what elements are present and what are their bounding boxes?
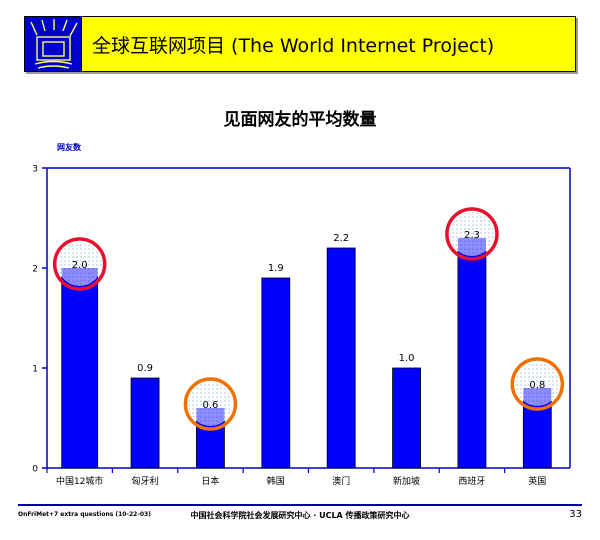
y-axis-tick-label: 2	[32, 265, 38, 275]
bar-value-label: 1.9	[268, 263, 284, 274]
annotation-circle	[512, 359, 562, 409]
annotation-bar-overlap	[523, 388, 551, 406]
bar-value-label: 2.0	[72, 260, 88, 271]
bar-value-label: 0.8	[529, 380, 545, 391]
bar-chart: 0123网友数中国12城市2.0匈牙利0.9日本0.6韩国1.9澳门2.2新加坡…	[0, 0, 600, 540]
header-banner: 全球互联网项目 (The World Internet Project)	[24, 16, 576, 72]
x-axis-category-label: 日本	[201, 475, 219, 487]
annotation-fill	[450, 212, 494, 256]
annotation-bar-overlap	[62, 268, 98, 286]
bar	[62, 268, 98, 468]
annotation-fill-upper	[58, 242, 102, 286]
bar-value-label: 0.6	[202, 400, 218, 411]
bar	[523, 388, 551, 468]
annotation-fill-upper	[450, 212, 494, 256]
x-axis-category-label: 英国	[528, 475, 546, 487]
annotation-fill	[188, 382, 232, 426]
annotation-bar-overlap	[458, 238, 486, 256]
footer-center-note: 中国社会科学院社会发展研究中心 · UCLA 传播政策研究中心	[0, 510, 600, 521]
annotation-fill	[58, 242, 102, 286]
bar	[262, 278, 290, 468]
bar-value-label: 2.3	[464, 230, 480, 241]
annotation-fill-upper	[515, 362, 559, 406]
y-axis-tick-label: 0	[32, 465, 38, 475]
bar	[393, 368, 421, 468]
annotation-fill-upper	[188, 382, 232, 426]
annotation-circle	[447, 209, 497, 259]
x-axis-category-label: 新加坡	[393, 475, 420, 487]
bar	[196, 408, 224, 468]
annotation-fill	[515, 362, 559, 406]
annotation-circle	[185, 379, 235, 429]
x-axis-category-label: 匈牙利	[132, 475, 159, 487]
y-axis-tick-label: 1	[32, 365, 38, 375]
bar	[327, 248, 355, 468]
y-axis-tick-label: 3	[32, 165, 38, 175]
annotation-circle	[55, 239, 105, 289]
x-axis-category-label: 韩国	[267, 475, 285, 487]
bar	[131, 378, 159, 468]
bar-value-label: 0.9	[137, 363, 153, 374]
footer-page-number: 33	[569, 509, 582, 520]
monitor-logo-icon	[24, 16, 82, 72]
x-axis-category-label: 西班牙	[458, 475, 485, 487]
bar	[458, 238, 486, 468]
slide-title: 见面网友的平均数量	[0, 105, 600, 130]
bar-value-label: 2.2	[333, 233, 349, 244]
annotation-bar-overlap	[196, 408, 224, 426]
footer-divider	[18, 504, 582, 506]
bar-value-label: 1.0	[399, 353, 415, 364]
header-title-box: 全球互联网项目 (The World Internet Project)	[82, 16, 576, 72]
header-title: 全球互联网项目 (The World Internet Project)	[92, 31, 494, 58]
y-axis-title: 网友数	[57, 142, 82, 152]
x-axis-category-label: 澳门	[332, 475, 350, 487]
x-axis-category-label: 中国12城市	[56, 475, 103, 487]
